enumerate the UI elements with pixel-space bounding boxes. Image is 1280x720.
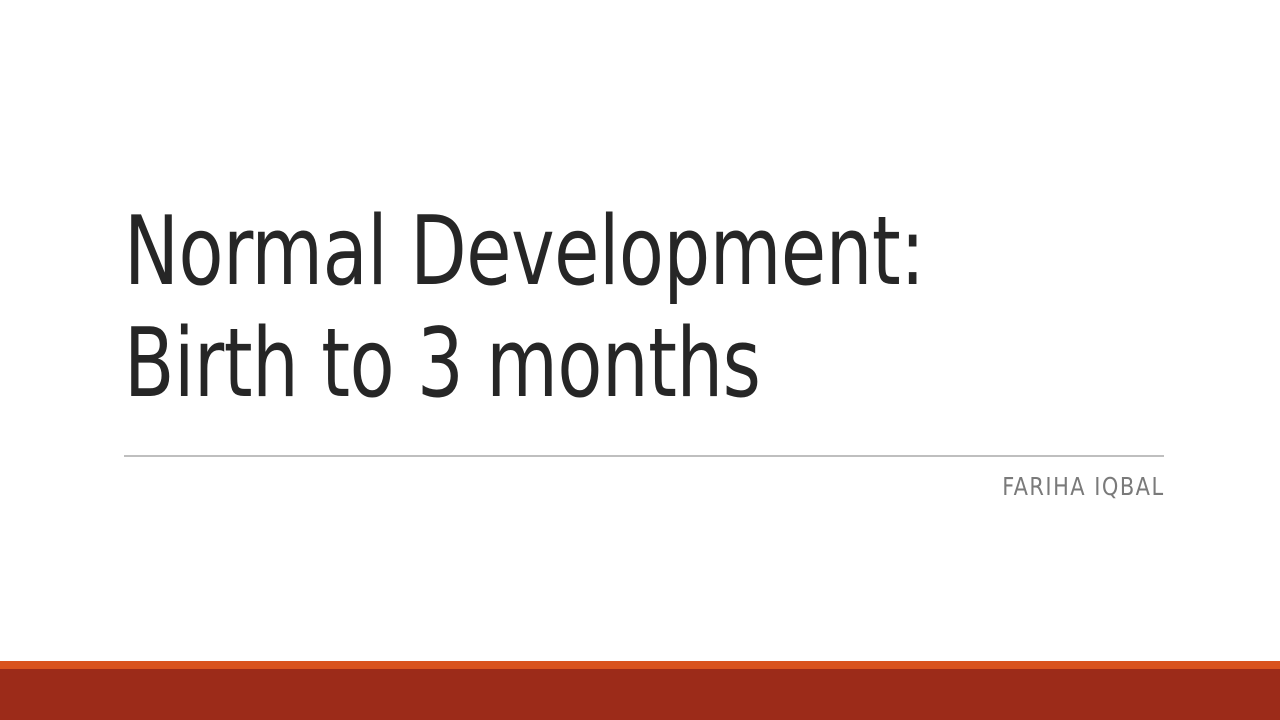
- author-name: FARIHA IQBAL: [1003, 472, 1165, 502]
- title-placeholder[interactable]: Normal Development: Birth to 3 months: [124, 196, 1164, 420]
- title-divider: [124, 455, 1164, 457]
- accent-bar-top: [0, 661, 1280, 669]
- subtitle-placeholder[interactable]: FARIHA IQBAL: [124, 472, 1165, 502]
- title-slide: Normal Development: Birth to 3 months FA…: [0, 0, 1280, 720]
- accent-bar-bottom: [0, 669, 1280, 720]
- page-title: Normal Development: Birth to 3 months: [124, 196, 1018, 420]
